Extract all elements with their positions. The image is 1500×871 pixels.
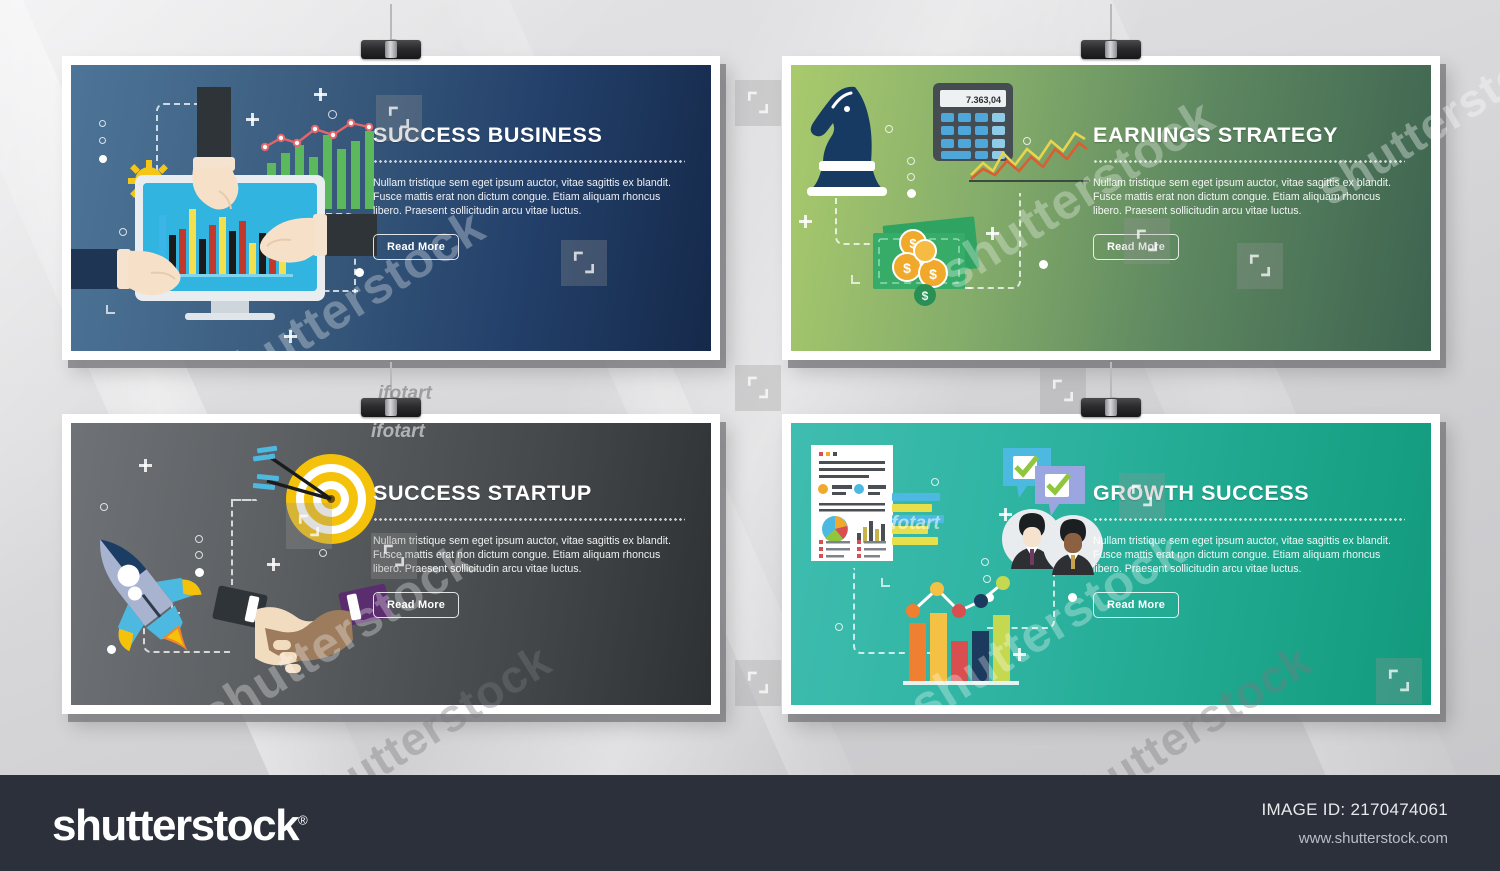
deco-dot (907, 189, 916, 198)
text-block-growth-success: GROWTH SUCCESS Nullam tristique sem eget… (1093, 481, 1405, 618)
deco-dot (1039, 260, 1048, 269)
horizontal-bar-chart-icon (892, 491, 952, 551)
panel-body: Nullam tristique sem eget ipsum auctor, … (373, 176, 671, 219)
deco-ring (907, 157, 915, 165)
dashed-connector (231, 501, 233, 585)
read-more-button[interactable]: Read More (1093, 234, 1179, 260)
banner-success-startup: SUCCESS STARTUP Nullam tristique sem ege… (71, 423, 711, 705)
panel-body: Nullam tristique sem eget ipsum auctor, … (1093, 176, 1391, 219)
money-coins-icon: $ $ $ $ $ (863, 205, 993, 313)
card-success-startup[interactable]: SUCCESS STARTUP Nullam tristique sem ege… (62, 414, 720, 714)
binder-clip-icon (361, 398, 421, 417)
line-chart-icon (969, 123, 1089, 183)
card-earnings-strategy[interactable]: 7.363,04 (782, 56, 1440, 360)
text-block-earnings-strategy: EARNINGS STRATEGY Nullam tristique sem e… (1093, 123, 1405, 260)
panel-body: Nullam tristique sem eget ipsum auctor, … (373, 534, 671, 577)
deco-ring (981, 558, 989, 566)
banner-success-business: SUCCESS BUSINESS Nullam tristique sem eg… (71, 65, 711, 351)
dotted-divider (1093, 518, 1405, 521)
bar-line-chart-icon (899, 575, 1049, 690)
read-more-button[interactable]: Read More (373, 592, 459, 618)
panel-body: Nullam tristique sem eget ipsum auctor, … (1093, 534, 1391, 577)
footer-bar: shutterstock® IMAGE ID: 2170474061 www.s… (0, 775, 1500, 871)
panel-title: SUCCESS STARTUP (373, 481, 685, 506)
deco-ring (931, 478, 939, 486)
image-id-label: IMAGE ID: 2170474061 (1261, 800, 1448, 820)
binder-clip-icon (361, 40, 421, 59)
deco-ring (835, 623, 843, 631)
card-growth-success[interactable]: GROWTH SUCCESS Nullam tristique sem eget… (782, 414, 1440, 714)
watermark-tile: ⌜⌟ (1376, 658, 1422, 704)
deco-dot (99, 155, 107, 163)
shutterstock-logo: shutterstock® (52, 801, 306, 851)
svg-text:$: $ (929, 266, 937, 282)
illustration-success-business (71, 65, 401, 351)
report-document-icon (811, 445, 901, 565)
pointing-hand-icon (251, 210, 381, 280)
card-success-business[interactable]: SUCCESS BUSINESS Nullam tristique sem eg… (62, 56, 720, 360)
card-frame: SUCCESS BUSINESS Nullam tristique sem eg… (62, 56, 720, 360)
chess-knight-icon (803, 83, 889, 198)
panel-title: GROWTH SUCCESS (1093, 481, 1405, 506)
illustration-earnings-strategy: 7.363,04 (791, 65, 1121, 351)
binder-clip-icon (1081, 398, 1141, 417)
pointing-hand-icon (71, 243, 201, 313)
target-arrows-icon (251, 443, 381, 559)
card-frame: GROWTH SUCCESS Nullam tristique sem eget… (782, 414, 1440, 714)
banner-earnings-strategy: 7.363,04 (791, 65, 1431, 351)
read-more-button[interactable]: Read More (1093, 592, 1179, 618)
deco-corner (851, 275, 860, 284)
illustration-success-startup (71, 423, 401, 705)
read-more-button[interactable]: Read More (373, 234, 459, 260)
panel-title: EARNINGS STRATEGY (1093, 123, 1405, 148)
dotted-divider (373, 518, 685, 521)
deco-ring (99, 137, 106, 144)
banner-growth-success: GROWTH SUCCESS Nullam tristique sem eget… (791, 423, 1431, 705)
calculator-display-value: 7.363,04 (966, 95, 1001, 105)
svg-text:$: $ (922, 289, 929, 303)
website-url: www.shutterstock.com (1299, 830, 1448, 847)
logo-text: shutterstock (52, 801, 298, 850)
deco-ring (907, 173, 915, 181)
card-frame: 7.363,04 (782, 56, 1440, 360)
rocket-icon (77, 518, 207, 658)
pointing-hand-icon (183, 87, 253, 222)
deco-ring (99, 120, 106, 127)
card-frame: SUCCESS STARTUP Nullam tristique sem ege… (62, 414, 720, 714)
text-block-success-business: SUCCESS BUSINESS Nullam tristique sem eg… (373, 123, 685, 260)
svg-text:$: $ (903, 260, 911, 276)
dotted-divider (1093, 160, 1405, 163)
deco-ring (100, 503, 108, 511)
dotted-divider (373, 160, 685, 163)
pie-chart-icon (822, 516, 848, 542)
text-block-success-startup: SUCCESS STARTUP Nullam tristique sem ege… (373, 481, 685, 618)
registered-mark: ® (298, 812, 306, 827)
deco-dot (1068, 593, 1077, 602)
deco-ring (119, 228, 127, 236)
panel-title: SUCCESS BUSINESS (373, 123, 685, 148)
binder-clip-icon (1081, 40, 1141, 59)
